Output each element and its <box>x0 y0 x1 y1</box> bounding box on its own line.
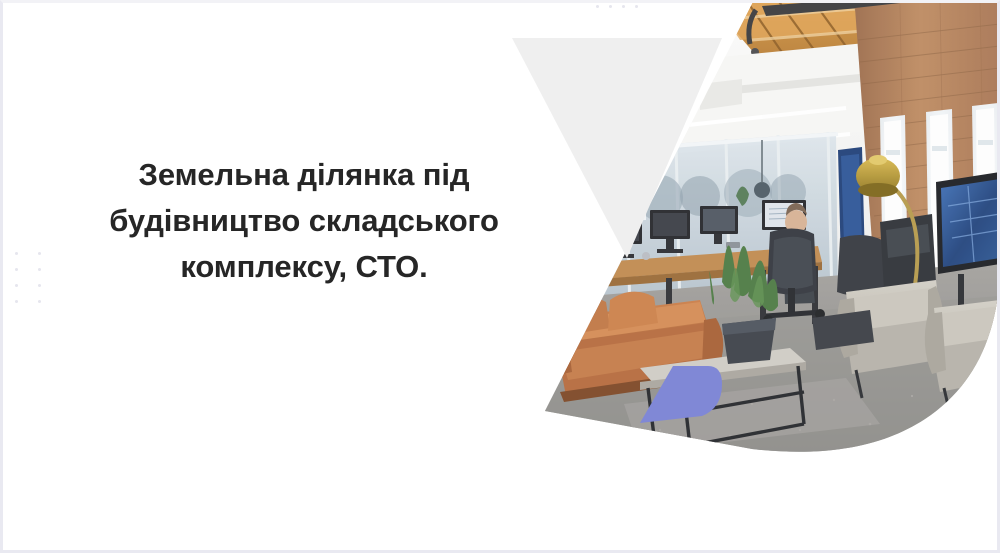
page-title: Земельна ділянка під будівництво складсь… <box>74 152 534 290</box>
dot-grid-top <box>596 0 642 16</box>
title-block: Земельна ділянка під будівництво складсь… <box>74 152 534 290</box>
dot-grid-left <box>15 252 45 304</box>
presentation-slide: Земельна ділянка під будівництво складсь… <box>0 0 1000 553</box>
